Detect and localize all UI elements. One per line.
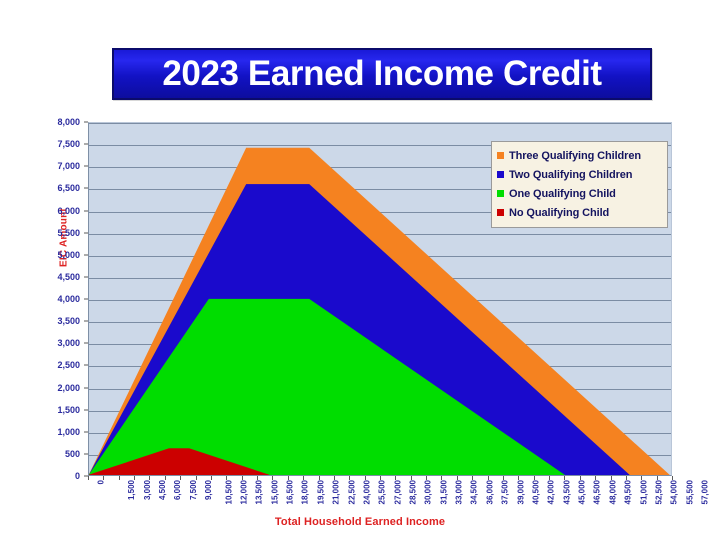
y-axis-tick-label: 7,500 (26, 139, 80, 149)
x-axis-tick-mark (288, 476, 289, 480)
y-axis-tick-label: 0 (26, 471, 80, 481)
chart-legend: Three Qualifying ChildrenTwo Qualifying … (491, 141, 668, 228)
x-axis-tick-label: 1,500 (127, 480, 136, 500)
y-axis-tick-label: 1,000 (26, 427, 80, 437)
x-axis-tick-mark (626, 476, 627, 480)
x-axis-tick-mark (441, 476, 442, 480)
x-axis-tick-label: 51,000 (639, 480, 648, 504)
x-axis-tick-label: 6,000 (174, 480, 183, 500)
x-axis-tick-label: 31,500 (439, 480, 448, 504)
x-axis-tick-label: 27,000 (393, 480, 402, 504)
x-axis-tick-mark (641, 476, 642, 480)
x-axis-tick-mark (534, 476, 535, 480)
y-axis-tick-label: 3,500 (26, 316, 80, 326)
page-title: 2023 Earned Income Credit (162, 54, 601, 94)
x-axis-tick-label: 22,500 (347, 480, 356, 504)
x-axis-tick-mark (380, 476, 381, 480)
y-axis-tick-label: 5,000 (26, 250, 80, 260)
x-axis-tick-label: 12,000 (239, 480, 248, 504)
y-axis-tick-label: 8,000 (26, 117, 80, 127)
x-axis-tick-label: 34,500 (470, 480, 479, 504)
x-axis-tick-mark (411, 476, 412, 480)
x-axis-tick-mark (457, 476, 458, 480)
legend-item-label: Two Qualifying Children (509, 169, 632, 181)
x-axis-tick-label: 3,000 (143, 480, 152, 500)
x-axis-tick-label: 10,500 (224, 480, 233, 504)
x-axis-tick-mark (303, 476, 304, 480)
y-axis-tick-label: 5,500 (26, 228, 80, 238)
x-axis-tick-label: 16,500 (286, 480, 295, 504)
y-axis-tick-label: 7,000 (26, 161, 80, 171)
x-axis-tick-mark (180, 476, 181, 480)
x-axis-title: Total Household Earned Income (0, 516, 720, 528)
x-axis-tick-label: 18,000 (301, 480, 310, 504)
y-axis-tick-label: 500 (26, 449, 80, 459)
x-axis-tick-mark (657, 476, 658, 480)
x-axis-tick-label: 25,500 (378, 480, 387, 504)
x-axis-tick-mark (242, 476, 243, 480)
x-axis-tick-label: 13,500 (255, 480, 264, 504)
legend-item: One Qualifying Child (497, 184, 662, 203)
y-axis-tick-label: 4,500 (26, 272, 80, 282)
x-axis-tick-label: 33,000 (455, 480, 464, 504)
x-axis-tick-mark (334, 476, 335, 480)
x-axis-tick-label: 55,500 (685, 480, 694, 504)
x-axis-tick-label: 37,500 (501, 480, 510, 504)
x-axis-tick-mark (319, 476, 320, 480)
x-axis-tick-label: 48,000 (608, 480, 617, 504)
chart-title-banner: 2023 Earned Income Credit (112, 48, 652, 100)
legend-item-label: No Qualifying Child (509, 207, 609, 219)
x-axis-tick-mark (488, 476, 489, 480)
x-axis-tick-mark (257, 476, 258, 480)
x-axis-tick-label: 15,000 (270, 480, 279, 504)
x-axis-tick-mark (88, 476, 89, 480)
y-axis-tick-label: 2,000 (26, 383, 80, 393)
x-axis-tick-label: 45,000 (578, 480, 587, 504)
x-axis-tick-label: 21,000 (332, 480, 341, 504)
x-axis-tick-mark (272, 476, 273, 480)
x-axis-tick-mark (611, 476, 612, 480)
y-axis-tick-label: 4,000 (26, 294, 80, 304)
x-axis-tick-mark (472, 476, 473, 480)
x-axis-tick-mark (226, 476, 227, 480)
x-axis-tick-mark (595, 476, 596, 480)
y-axis-tick-label: 1,500 (26, 405, 80, 415)
x-axis-tick-label: 39,000 (516, 480, 525, 504)
x-axis-tick-label: 54,000 (670, 480, 679, 504)
x-axis-tick-label: 24,000 (362, 480, 371, 504)
x-axis-tick-label: 19,500 (316, 480, 325, 504)
y-axis-tick-label: 6,000 (26, 206, 80, 216)
x-axis-tick-label: 36,000 (485, 480, 494, 504)
x-axis-tick-label: 30,000 (424, 480, 433, 504)
x-axis-tick-mark (503, 476, 504, 480)
x-axis-tick-label: 7,500 (189, 480, 198, 500)
x-axis-tick-mark (426, 476, 427, 480)
x-axis-tick-label: 46,500 (593, 480, 602, 504)
legend-color-swatch (497, 171, 504, 178)
legend-color-swatch (497, 190, 504, 197)
x-axis-tick-mark (211, 476, 212, 480)
x-axis-tick-mark (580, 476, 581, 480)
y-axis-tick-label: 3,000 (26, 338, 80, 348)
x-axis-tick-label: 9,000 (204, 480, 213, 500)
x-axis-tick-mark (518, 476, 519, 480)
x-axis-tick-mark (564, 476, 565, 480)
x-axis-tick-mark (134, 476, 135, 480)
x-axis-tick-label: 42,000 (547, 480, 556, 504)
x-axis-tick-mark (395, 476, 396, 480)
x-axis-tick-label: 52,500 (654, 480, 663, 504)
x-axis-tick-mark (103, 476, 104, 480)
x-axis-tick-mark (196, 476, 197, 480)
legend-item: Three Qualifying Children (497, 146, 662, 165)
x-axis-tick-mark (149, 476, 150, 480)
x-axis-tick-label: 0 (96, 480, 105, 484)
legend-color-swatch (497, 152, 504, 159)
legend-item: No Qualifying Child (497, 203, 662, 222)
x-axis-tick-mark (119, 476, 120, 480)
x-axis-tick-label: 28,500 (408, 480, 417, 504)
legend-color-swatch (497, 209, 504, 216)
y-axis-tick-label: 2,500 (26, 360, 80, 370)
y-axis-tick-label: 6,500 (26, 183, 80, 193)
x-axis-tick-mark (165, 476, 166, 480)
x-axis-tick-mark (349, 476, 350, 480)
x-axis-tick-label: 49,500 (624, 480, 633, 504)
x-axis-tick-mark (365, 476, 366, 480)
x-axis-tick-label: 43,500 (562, 480, 571, 504)
x-axis-tick-label: 40,500 (531, 480, 540, 504)
legend-item-label: One Qualifying Child (509, 188, 616, 200)
x-axis-tick-mark (549, 476, 550, 480)
x-axis-tick-label: 57,000 (700, 480, 709, 504)
x-axis-tick-mark (672, 476, 673, 480)
legend-item: Two Qualifying Children (497, 165, 662, 184)
legend-item-label: Three Qualifying Children (509, 150, 641, 162)
x-axis-tick-label: 4,500 (158, 480, 167, 500)
